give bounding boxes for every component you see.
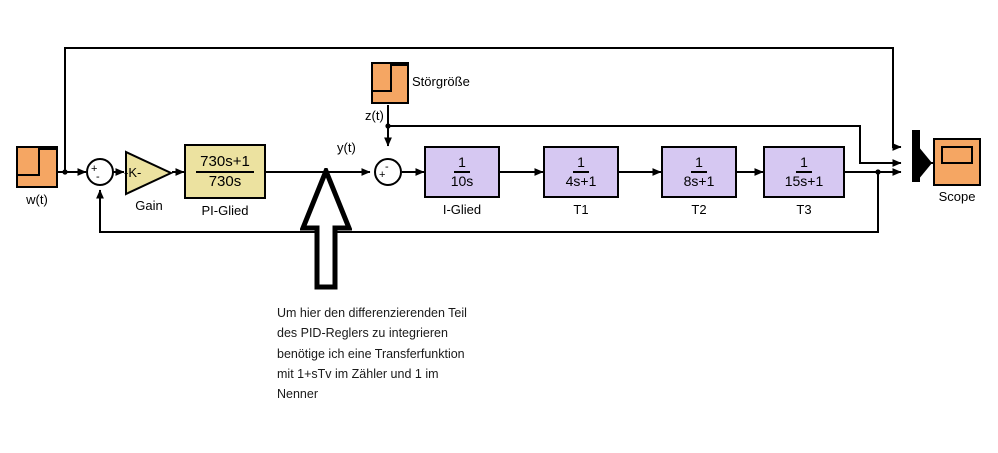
i-numerator: 1	[454, 155, 470, 173]
sum-disturbance-sign-plus: +	[379, 170, 385, 181]
signal-label-z: z(t)	[365, 108, 384, 123]
step-glyph-top	[38, 148, 58, 150]
step-source-w[interactable]	[16, 146, 58, 188]
t1-denominator: 4s+1	[562, 173, 601, 189]
t2-numerator: 1	[691, 155, 707, 173]
transfer-block-t2-caption: T2	[661, 202, 737, 217]
transfer-block-pi-caption: PI-Glied	[184, 203, 266, 218]
pi-denominator: 730s	[205, 173, 246, 190]
block-diagram-canvas: w(t) + - -K- Gain 730s+1 730s PI-Glied S…	[0, 0, 998, 453]
sum-disturbance-sign-minus: -	[385, 162, 389, 173]
scope-block[interactable]	[933, 138, 981, 186]
wire-top-to-mux1	[893, 137, 901, 147]
transfer-block-t3[interactable]: 1 15s+1	[763, 146, 845, 198]
step-source-w-caption: w(t)	[16, 192, 58, 207]
transfer-block-i[interactable]: 1 10s	[424, 146, 500, 198]
step-glyph-horizontal	[373, 90, 392, 92]
transfer-block-i-caption: I-Glied	[424, 202, 500, 217]
transfer-block-pi[interactable]: 730s+1 730s	[184, 144, 266, 199]
signal-label-y: y(t)	[337, 140, 356, 155]
scope-caption: Scope	[933, 189, 981, 204]
step-source-disturbance[interactable]	[371, 62, 409, 104]
transfer-block-t1-caption: T1	[543, 202, 619, 217]
pi-numerator: 730s+1	[196, 154, 254, 173]
step-glyph-horizontal	[18, 174, 40, 176]
annotation-text: Um hier den differenzierenden Teil des P…	[277, 303, 577, 404]
junction-dot-output	[875, 169, 880, 174]
step-glyph-top	[390, 64, 409, 66]
gain-label: -K-	[124, 165, 164, 180]
up-arrow-annotation-icon	[300, 168, 352, 290]
junction-dot-z	[385, 123, 390, 128]
transfer-block-t3-caption: T3	[763, 202, 845, 217]
step-glyph-vertical	[38, 148, 40, 176]
junction-dot-w	[62, 169, 67, 174]
mux-output-wedge	[918, 146, 932, 180]
scope-screen	[941, 146, 973, 164]
t3-numerator: 1	[796, 155, 812, 173]
transfer-block-t1[interactable]: 1 4s+1	[543, 146, 619, 198]
t2-denominator: 8s+1	[680, 173, 719, 189]
i-denominator: 10s	[447, 173, 478, 189]
transfer-block-t2[interactable]: 1 8s+1	[661, 146, 737, 198]
step-glyph-vertical	[390, 64, 392, 92]
t1-numerator: 1	[573, 155, 589, 173]
disturbance-caption: Störgröße	[412, 74, 470, 89]
t3-denominator: 15s+1	[781, 173, 828, 189]
gain-caption: Gain	[124, 198, 174, 213]
sum-error-sign-minus: -	[96, 172, 100, 183]
